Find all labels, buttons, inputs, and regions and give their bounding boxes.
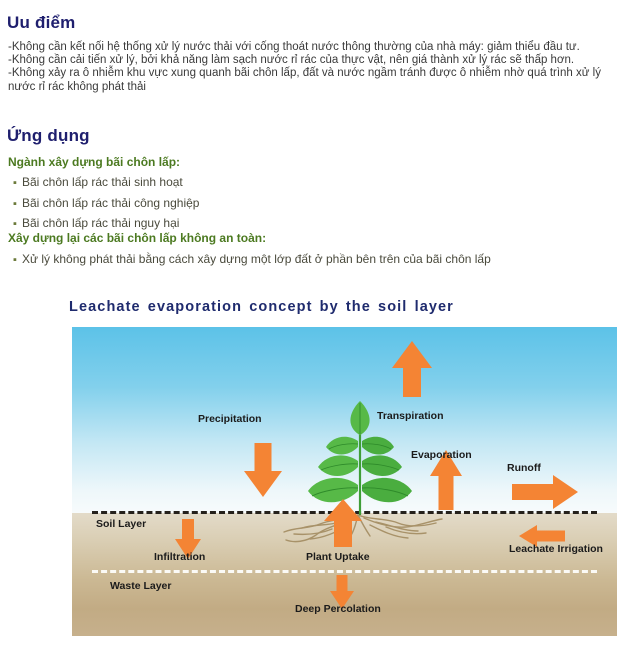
- leachate-evaporation-diagram: Precipitation Transpiration Evaporation …: [72, 327, 617, 636]
- page-root: Uu điểm -Không cần kết nối hệ thống xử l…: [0, 0, 634, 647]
- label-runoff: Runoff: [507, 462, 541, 474]
- list-item-label: Bãi chôn lấp rác thải công nghiệp: [22, 196, 199, 210]
- advantages-paragraph: -Không cần kết nối hệ thống xử lý nước t…: [8, 41, 630, 94]
- list-item-label: Bãi chôn lấp rác thải nguy hại: [22, 216, 179, 230]
- label-leachate-irrigation: Leachate Irrigation: [509, 543, 603, 555]
- applications-group1-list: ▪Bãi chôn lấp rác thải sinh hoạt ▪Bãi ch…: [13, 173, 199, 235]
- label-deep-percolation: Deep Percolation: [295, 603, 381, 615]
- applications-heading: Ứng dụng: [7, 126, 90, 146]
- advantages-heading: Uu điểm: [7, 13, 75, 33]
- list-item: ▪Bãi chôn lấp rác thải công nghiệp: [13, 194, 199, 215]
- waste-layer-dashed-line: [92, 570, 597, 573]
- transpiration-arrow-icon: [392, 341, 432, 397]
- label-waste-layer: Waste Layer: [110, 580, 171, 592]
- list-item-label: Xử lý không phát thải bằng cách xây dựng…: [22, 252, 491, 266]
- applications-group1-title: Ngành xây dựng bãi chôn lấp:: [8, 155, 180, 169]
- applications-group2-list: ▪Xử lý không phát thải bằng cách xây dựn…: [13, 250, 491, 271]
- label-infiltration: Infiltration: [154, 551, 205, 563]
- bullet-icon: ▪: [13, 195, 22, 215]
- bullet-icon: ▪: [13, 251, 22, 271]
- advantages-line-2: -Không cần cải tiến xử lý, bởi khả năng …: [8, 54, 630, 67]
- bullet-icon: ▪: [13, 174, 22, 194]
- label-evaporation: Evaporation: [411, 449, 472, 461]
- label-soil-layer: Soil Layer: [96, 518, 146, 530]
- advantages-line-1: -Không cần kết nối hệ thống xử lý nước t…: [8, 41, 630, 54]
- advantages-line-3: -Không xảy ra ô nhiễm khu vực xung quanh…: [8, 67, 630, 80]
- list-item: ▪Bãi chôn lấp rác thải sinh hoạt: [13, 173, 199, 194]
- label-plant-uptake: Plant Uptake: [306, 551, 370, 563]
- applications-group2-title: Xây dựng lại các bãi chôn lấp không an t…: [8, 231, 266, 245]
- label-transpiration: Transpiration: [377, 410, 444, 422]
- precipitation-arrow-icon: [244, 443, 282, 497]
- runoff-arrow-icon: [512, 475, 578, 509]
- plant-illustration: [304, 389, 416, 517]
- label-precipitation: Precipitation: [198, 413, 262, 425]
- figure-title: Leachate evaporation concept by the soil…: [69, 299, 454, 315]
- list-item-label: Bãi chôn lấp rác thải sinh hoạt: [22, 175, 183, 189]
- advantages-line-4: nước rỉ rác không phát thải: [8, 81, 630, 94]
- plant-uptake-arrow-icon: [324, 499, 362, 547]
- list-item: ▪Xử lý không phát thải bằng cách xây dựn…: [13, 250, 491, 271]
